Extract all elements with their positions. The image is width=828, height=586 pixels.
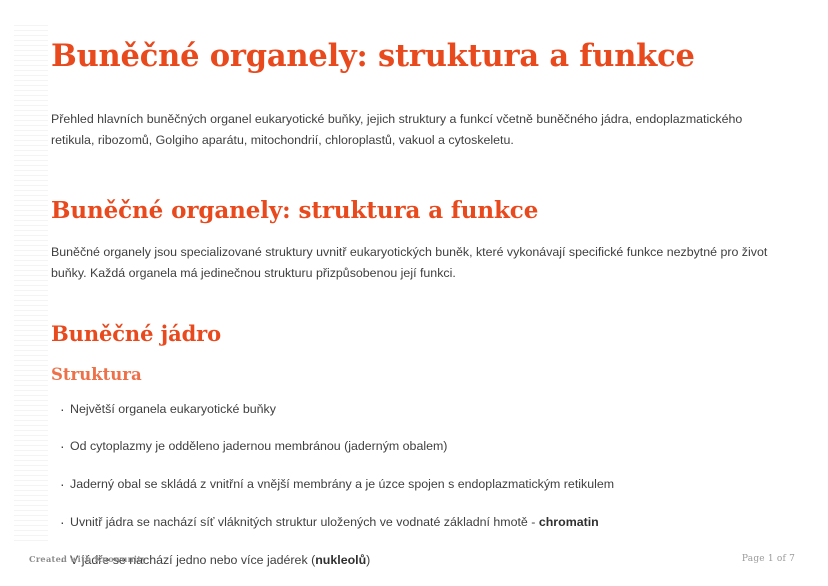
spacer bbox=[51, 151, 788, 198]
list-item: Od cytoplazmy je odděleno jadernou membr… bbox=[51, 438, 788, 455]
spacer bbox=[51, 284, 788, 322]
list-item-text: Od cytoplazmy je odděleno jadernou membr… bbox=[70, 439, 447, 453]
list-item-text: Uvnitř jádra se nachází síť vláknitých s… bbox=[70, 515, 539, 529]
list-item-text: Největší organela eukaryotické buňky bbox=[70, 402, 276, 416]
footer-page-number: Page 1 of 7 bbox=[742, 554, 795, 564]
document-content: Buněčné organely: struktura a funkce Pře… bbox=[51, 0, 788, 568]
spacer bbox=[51, 73, 788, 109]
list-item: Největší organela eukaryotické buňky bbox=[51, 401, 788, 418]
spacer bbox=[51, 225, 788, 242]
list-item: Jaderný obal se skládá z vnitřní a vnějš… bbox=[51, 476, 788, 493]
document-lead-paragraph: Přehled hlavních buněčných organel eukar… bbox=[51, 109, 788, 151]
section-heading-organely: Buněčné organely: struktura a funkce bbox=[51, 198, 788, 224]
page-title: Buněčné organely: struktura a funkce bbox=[51, 0, 788, 73]
section-heading-jadro: Buněčné jádro bbox=[51, 322, 788, 346]
margin-ruled-lines-decoration bbox=[14, 25, 48, 545]
page-footer: Created with Knowunity Page 1 of 7 bbox=[0, 554, 828, 572]
spacer bbox=[51, 385, 788, 401]
footer-credit: Created with Knowunity bbox=[29, 554, 146, 564]
section-paragraph-organely: Buněčné organely jsou specializované str… bbox=[51, 242, 788, 284]
list-item-text: Jaderný obal se skládá z vnitřní a vnějš… bbox=[70, 477, 614, 491]
list-item: Uvnitř jádra se nachází síť vláknitých s… bbox=[51, 514, 788, 531]
subsection-heading-struktura: Struktura bbox=[51, 366, 788, 385]
structure-bullet-list: Největší organela eukaryotické buňkyOd c… bbox=[51, 401, 788, 569]
document-page: Buněčné organely: struktura a funkce Pře… bbox=[0, 0, 828, 586]
list-item-term: chromatin bbox=[539, 515, 599, 529]
spacer bbox=[51, 346, 788, 366]
